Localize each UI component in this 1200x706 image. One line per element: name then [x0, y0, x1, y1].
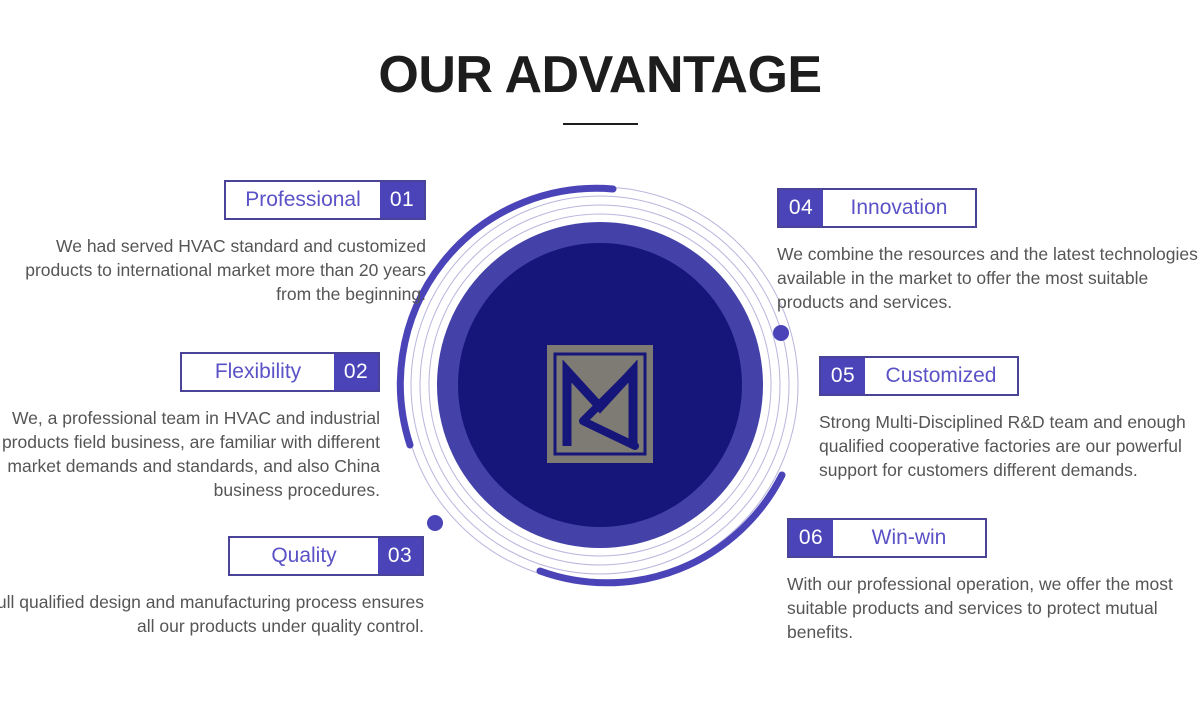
advantage-label-box-04[interactable]: 04 Innovation — [777, 188, 977, 228]
advantage-number-03: 03 — [378, 538, 422, 574]
advantage-number-02: 02 — [334, 354, 378, 390]
advantage-body-02: We, a professional team in HVAC and indu… — [0, 406, 380, 503]
advantage-item-02: Flexibility 02 We, a professional team i… — [0, 352, 380, 503]
header: OUR ADVANTAGE — [0, 46, 1200, 125]
advantage-label-02: Flexibility — [182, 354, 334, 390]
advantage-number-01: 01 — [380, 182, 424, 218]
infographic-slide: OUR ADVANTAGE — [0, 0, 1200, 706]
advantage-label-01: Professional — [226, 182, 380, 218]
advantage-label-05: Customized — [865, 358, 1017, 394]
center-circle-graphic — [400, 185, 800, 585]
advantage-label-box-03[interactable]: Quality 03 — [228, 536, 424, 576]
advantage-item-06: 06 Win-win With our professional operati… — [787, 518, 1200, 644]
page-title: OUR ADVANTAGE — [0, 46, 1200, 104]
advantage-label-box-06[interactable]: 06 Win-win — [787, 518, 987, 558]
advantage-body-04: We combine the resources and the latest … — [777, 242, 1200, 314]
advantage-number-04: 04 — [779, 190, 823, 226]
connector-dot-left — [427, 515, 443, 531]
mk-monogram-logo — [547, 345, 653, 463]
advantage-label-06: Win-win — [833, 520, 985, 556]
connector-dot-right — [773, 325, 789, 341]
advantage-item-04: 04 Innovation We combine the resources a… — [777, 188, 1200, 314]
advantage-item-01: Professional 01 We had served HVAC stand… — [0, 180, 426, 306]
advantage-label-box-05[interactable]: 05 Customized — [819, 356, 1019, 396]
advantage-item-03: Quality 03 Full qualified design and man… — [0, 536, 424, 638]
advantage-label-box-01[interactable]: Professional 01 — [224, 180, 426, 220]
advantage-label-box-02[interactable]: Flexibility 02 — [180, 352, 380, 392]
advantage-body-03: Full qualified design and manufacturing … — [0, 590, 424, 638]
advantage-body-01: We had served HVAC standard and customiz… — [0, 234, 426, 306]
advantage-label-03: Quality — [230, 538, 378, 574]
advantage-item-05: 05 Customized Strong Multi-Disciplined R… — [819, 356, 1200, 482]
title-underline-rule — [563, 123, 638, 125]
advantage-body-06: With our professional operation, we offe… — [787, 572, 1200, 644]
advantage-number-06: 06 — [789, 520, 833, 556]
advantage-body-05: Strong Multi-Disciplined R&D team and en… — [819, 410, 1200, 482]
advantage-label-04: Innovation — [823, 190, 975, 226]
advantage-number-05: 05 — [821, 358, 865, 394]
